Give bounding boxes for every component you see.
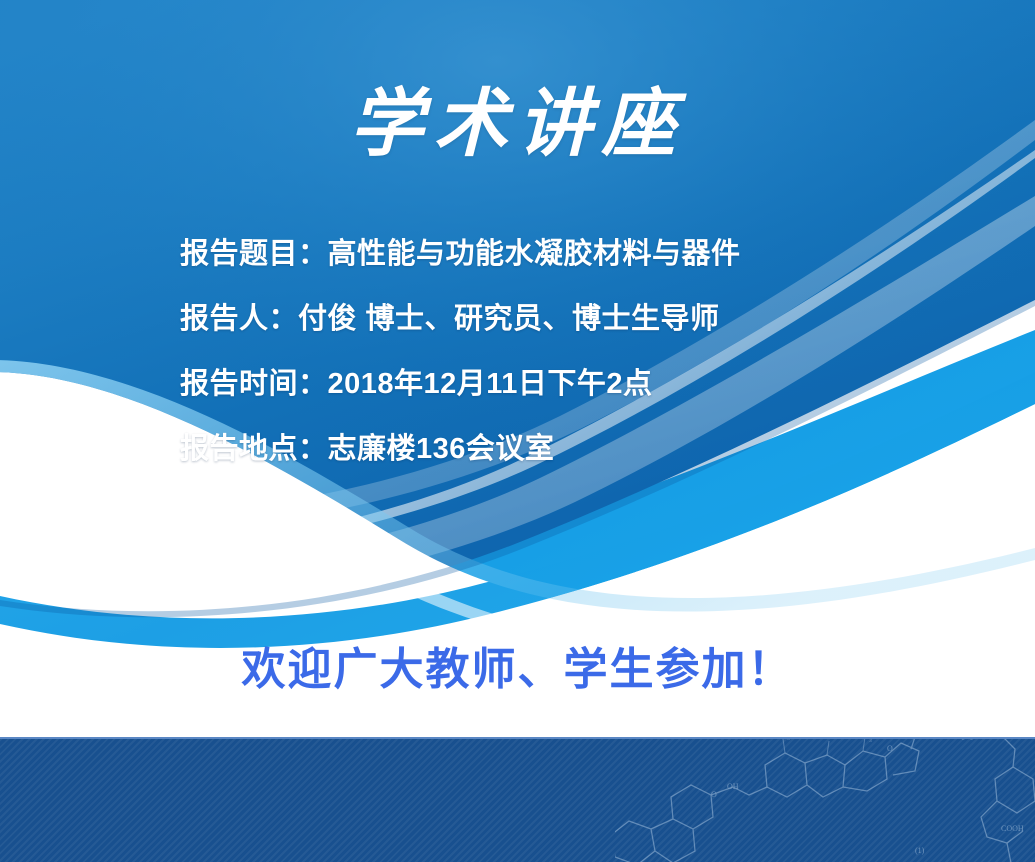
- detail-venue: 报告地点：志廉楼136会议室: [180, 435, 940, 471]
- chemical-structure-decoration: CH3 CH3 O O (CH2)4NH O OH O COOH (1): [615, 739, 1035, 862]
- svg-text:(1): (1): [915, 846, 925, 855]
- detail-topic: 报告题目：高性能与功能水凝胶材料与器件: [180, 240, 940, 276]
- lecture-details-list: 报告题目：高性能与功能水凝胶材料与器件 报告人：付俊 博士、研究员、博士生导师 …: [180, 240, 940, 500]
- page-title: 学术讲座: [0, 88, 1035, 162]
- svg-text:COOH: COOH: [1001, 824, 1024, 833]
- svg-text:O: O: [887, 744, 893, 753]
- detail-speaker: 报告人：付俊 博士、研究员、博士生导师: [180, 305, 940, 341]
- welcome-message: 欢迎广大教师、学生参加！: [0, 648, 1035, 692]
- lecture-poster: 学术讲座 报告题目：高性能与功能水凝胶材料与器件 报告人：付俊 博士、研究员、博…: [0, 0, 1035, 862]
- svg-text:2: 2: [962, 739, 965, 742]
- svg-text:OH: OH: [727, 782, 739, 791]
- detail-datetime: 报告时间：2018年12月11日下午2点: [180, 370, 940, 406]
- svg-text:3: 3: [869, 739, 872, 744]
- footer-band: CH3 CH3 O O (CH2)4NH O OH O COOH (1): [0, 737, 1035, 862]
- svg-text:3: 3: [787, 739, 790, 742]
- svg-text:CH: CH: [855, 739, 866, 741]
- svg-text:4: 4: [970, 739, 973, 742]
- svg-text:O: O: [711, 790, 717, 799]
